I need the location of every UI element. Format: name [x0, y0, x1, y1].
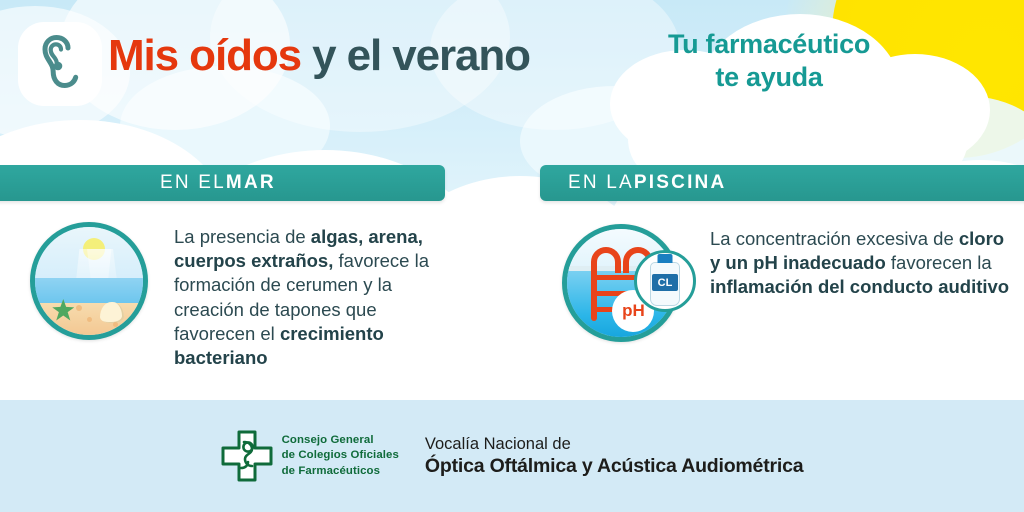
sand-dot-2: [87, 317, 92, 322]
page-title-rest: y el verano: [301, 31, 530, 80]
beach-scene-icon: [30, 222, 148, 340]
mar-text-part-0: La presencia de: [174, 226, 311, 247]
pool-illustration-wrap: pH CL: [562, 224, 690, 352]
card-mar-text: La presencia de algas, arena, cuerpos ex…: [174, 222, 429, 370]
card-mar: La presencia de algas, arena, cuerpos ex…: [30, 222, 430, 370]
logo-line-1: Consejo General: [282, 433, 399, 448]
ear-badge: [18, 22, 102, 106]
vocalia-block: Vocalía Nacional de Óptica Oftálmica y A…: [425, 434, 804, 479]
cgcof-logo-text: Consejo General de Colegios Oficiales de…: [282, 433, 399, 478]
page-title: Mis oídos y el verano: [108, 34, 530, 78]
section-bar-piscina: EN LA PISCINA: [540, 165, 1024, 201]
piscina-text-part-0: La concentración excesiva de: [710, 228, 959, 249]
logo-line-3: de Farmacéuticos: [282, 464, 399, 479]
piscina-text-part-3: inflamación del conducto auditivo: [710, 276, 1009, 297]
section-bar-mar-strong: MAR: [226, 172, 276, 194]
card-piscina: pH CL La concentración excesiva de cloro…: [562, 224, 1014, 352]
bottle-cap-icon: [658, 254, 673, 263]
slogan-line-2: te ayuda: [622, 61, 916, 94]
slogan-line-1: Tu farmacéutico: [622, 28, 916, 61]
header: Mis oídos y el verano Tu farmacéutico te…: [0, 0, 1024, 150]
section-bar-mar-prefix: EN EL: [160, 172, 226, 194]
slogan: Tu farmacéutico te ayuda: [622, 28, 916, 94]
beach-illustration-wrap: [30, 222, 158, 350]
infographic-poster: Mis oídos y el verano Tu farmacéutico te…: [0, 0, 1024, 512]
beach-sea: [35, 278, 143, 303]
ear-icon: [35, 35, 85, 94]
chlorine-bottle-badge: CL: [634, 250, 696, 312]
section-bar-piscina-prefix: EN LA: [568, 172, 634, 194]
chlorine-bottle-icon: CL: [650, 262, 680, 306]
cl-label: CL: [652, 274, 678, 291]
vocalia-line-2: Óptica Oftálmica y Acústica Audiométrica: [425, 454, 804, 478]
card-piscina-text: La concentración excesiva de cloro y un …: [710, 224, 1010, 300]
cgcof-logo: Consejo General de Colegios Oficiales de…: [221, 430, 399, 482]
footer-inner: Consejo General de Colegios Oficiales de…: [221, 430, 804, 482]
logo-line-2: de Colegios Oficiales: [282, 448, 399, 463]
vocalia-line-1: Vocalía Nacional de: [425, 434, 804, 455]
section-bar-mar: EN EL MAR: [0, 165, 445, 201]
page-title-highlight: Mis oídos: [108, 31, 301, 80]
piscina-text-part-2: favorecen la: [886, 252, 992, 273]
pharmacy-cross-icon: [221, 430, 273, 482]
footer: Consejo General de Colegios Oficiales de…: [0, 400, 1024, 512]
seashell-icon: [100, 302, 124, 323]
section-bar-piscina-strong: PISCINA: [634, 172, 726, 194]
